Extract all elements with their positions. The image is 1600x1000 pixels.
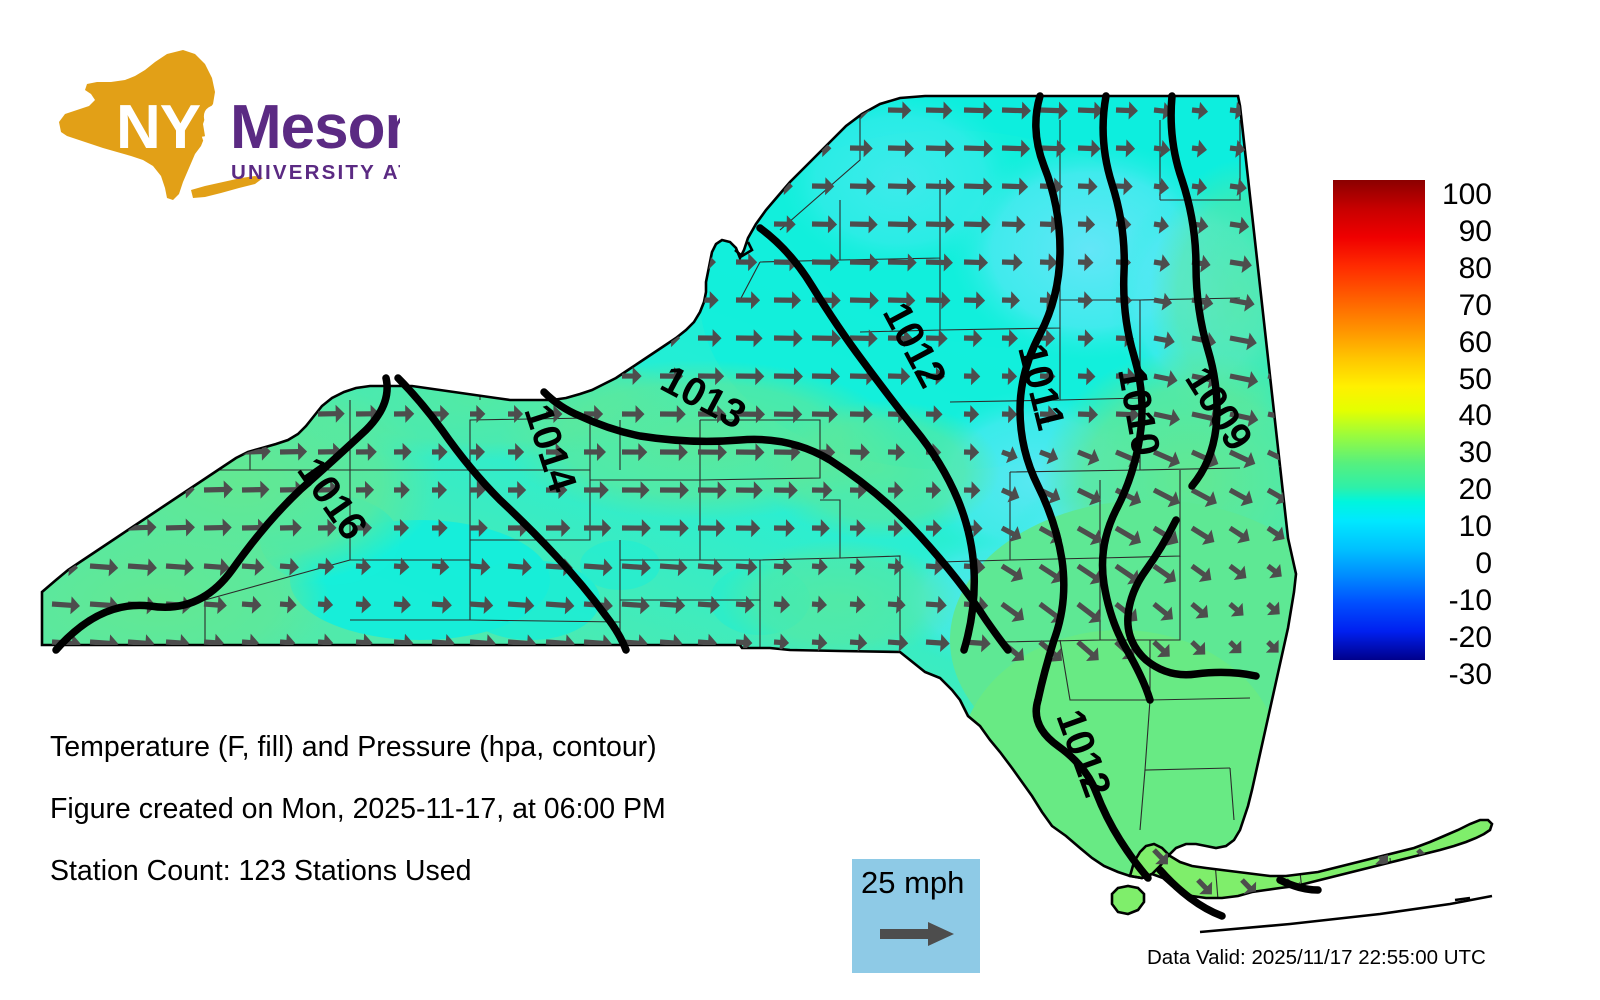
wind-arrow — [52, 100, 81, 119]
colorbar-tick-20: 20 — [1459, 475, 1492, 505]
wind-arrow — [52, 138, 80, 157]
wind-arrow — [660, 291, 678, 309]
wind-arrow — [546, 215, 567, 233]
wind-arrow — [736, 101, 751, 119]
wind-arrow — [280, 177, 298, 195]
wind-arrow — [622, 291, 638, 309]
wind-arrow — [736, 177, 753, 195]
colorbar-tick-90: 90 — [1459, 217, 1492, 247]
wind-arrow — [128, 480, 155, 499]
wind-arrow — [280, 139, 296, 157]
wind-arrow — [166, 139, 184, 157]
wind-arrow — [128, 291, 144, 309]
wind-arrow — [242, 366, 270, 385]
wind-arrow — [128, 138, 149, 157]
wind-arrow — [318, 291, 347, 309]
wind-arrow — [52, 252, 72, 271]
wind-arrow — [128, 404, 150, 423]
wind-arrow — [90, 176, 112, 195]
wind-arrow — [52, 176, 77, 195]
wind-arrow — [90, 138, 115, 157]
wind-arrow — [166, 366, 189, 385]
wind-arrow — [470, 367, 487, 385]
wind-arrow — [546, 139, 573, 157]
wind-arrow — [470, 291, 492, 309]
wind-arrow — [508, 101, 537, 119]
wind-arrow — [280, 366, 309, 385]
wind-arrow — [698, 139, 713, 157]
wind-arrow — [166, 404, 191, 423]
wind-arrow — [660, 177, 676, 195]
wind-arrow — [508, 139, 537, 157]
wind-arrow — [546, 367, 561, 385]
wind-arrow — [698, 177, 713, 195]
wind-arrow — [52, 366, 68, 385]
wind-arrow — [812, 101, 829, 119]
wind-arrow — [584, 367, 601, 385]
wind-arrow — [356, 291, 385, 309]
wind-arrow — [166, 291, 183, 309]
data-valid-timestamp: Data Valid: 2025/11/17 22:55:00 UTC — [1147, 946, 1486, 970]
wind-arrow — [1267, 253, 1295, 275]
wind-arrow — [470, 101, 498, 119]
colorbar-tick-50: 50 — [1459, 365, 1492, 395]
wind-arrow — [508, 253, 530, 271]
wind-arrow — [90, 291, 106, 309]
wind-arrow — [584, 101, 610, 119]
wind-arrow — [204, 291, 224, 309]
wind-legend-arrow-icon — [880, 921, 956, 952]
wind-arrow — [470, 139, 499, 157]
wind-arrow — [584, 291, 599, 309]
wind-arrow — [660, 101, 680, 119]
wind-arrow — [204, 101, 222, 119]
wind-arrow — [1280, 904, 1307, 931]
wind-arrow — [1266, 291, 1296, 314]
wind-arrow — [1456, 874, 1483, 901]
wind-arrow — [280, 328, 308, 347]
wind-arrow — [166, 215, 182, 233]
colorbar-tick-minus30: -30 — [1449, 660, 1492, 690]
wind-arrow — [432, 329, 455, 347]
wind-arrow — [660, 215, 675, 233]
wind-arrow — [128, 253, 144, 271]
wind-arrow — [584, 177, 605, 195]
wind-arrow — [318, 215, 342, 233]
wind-arrow — [318, 101, 335, 119]
colorbar-tick-minus10: -10 — [1449, 586, 1492, 616]
wind-arrow — [128, 176, 147, 195]
wind-arrow — [242, 253, 263, 271]
wind-arrow — [584, 215, 602, 233]
wind-arrow — [242, 215, 260, 233]
wind-arrow — [1267, 215, 1292, 236]
wind-arrow — [470, 253, 495, 271]
wind-arrow — [774, 101, 790, 119]
wind-arrow — [242, 328, 268, 347]
wind-arrow — [508, 215, 533, 233]
wind-arrow — [90, 214, 109, 233]
wind-arrow — [52, 328, 68, 347]
wind-arrow — [90, 366, 107, 385]
wind-arrow — [394, 215, 423, 233]
wind-arrow — [508, 291, 527, 309]
wind-arrow — [128, 366, 147, 385]
wind-arrow — [90, 100, 117, 119]
colorbar-tick-30: 30 — [1459, 438, 1492, 468]
wind-arrow — [546, 177, 570, 195]
wind-arrow — [90, 442, 112, 461]
wind-arrow — [318, 139, 337, 157]
wind-arrow — [356, 101, 375, 119]
wind-arrow — [432, 215, 461, 233]
wind-arrow — [508, 367, 523, 385]
wind-arrow — [204, 215, 220, 233]
colorbar-gradient — [1333, 180, 1425, 660]
wind-arrow — [52, 404, 69, 423]
wind-arrow — [508, 177, 535, 195]
caption-variables: Temperature (F, fill) and Pressure (hpa,… — [50, 716, 850, 778]
wind-arrow — [470, 329, 489, 347]
wind-arrow — [90, 518, 117, 537]
wind-arrow — [204, 253, 222, 271]
wind-arrow — [546, 253, 564, 271]
wind-arrow — [394, 291, 422, 309]
wind-arrow — [242, 404, 271, 423]
wind-arrow — [128, 329, 145, 347]
wind-arrow — [1368, 874, 1395, 901]
wind-arrow — [166, 177, 182, 195]
wind-arrow — [660, 139, 677, 157]
wind-arrow — [1236, 844, 1263, 871]
wind-arrow — [90, 329, 106, 347]
wind-arrow — [356, 329, 384, 347]
wind-arrow — [432, 139, 460, 157]
caption-station-count: Station Count: 123 Stations Used — [50, 840, 850, 902]
wind-arrow — [660, 253, 676, 271]
wind-arrow — [52, 290, 69, 309]
colorbar-tick-minus20: -20 — [1449, 623, 1492, 653]
wind-arrow — [1148, 904, 1175, 931]
wind-arrow — [318, 177, 340, 195]
wind-arrow — [432, 253, 460, 271]
wind-arrow — [1412, 874, 1439, 901]
wind-arrow — [622, 215, 638, 233]
wind-arrow — [242, 291, 266, 309]
wind-arrow — [584, 253, 600, 271]
wind-arrow — [1267, 177, 1289, 197]
wind-arrow — [622, 101, 645, 119]
wind-arrow — [1280, 844, 1307, 871]
wind-arrow — [1267, 139, 1286, 159]
wind-arrow — [698, 215, 714, 233]
colorbar-tick-70: 70 — [1459, 291, 1492, 321]
figure-caption: Temperature (F, fill) and Pressure (hpa,… — [50, 716, 850, 902]
wind-arrow — [1267, 101, 1284, 121]
wind-arrow — [508, 329, 525, 347]
colorbar-tick-80: 80 — [1459, 254, 1492, 284]
wind-arrow — [432, 291, 458, 309]
wind-arrow — [52, 480, 73, 499]
wind-arrow — [204, 328, 227, 347]
wind-arrow — [90, 252, 107, 271]
wind-arrow — [166, 253, 182, 271]
wind-arrow — [356, 215, 383, 233]
wind-arrow — [546, 101, 574, 119]
wind-arrow — [204, 442, 233, 461]
wind-arrow — [584, 329, 599, 347]
wind-arrow — [204, 366, 230, 385]
wind-arrow — [1456, 844, 1483, 871]
wind-arrow — [280, 253, 304, 271]
wind-arrow — [622, 253, 637, 271]
wind-arrow — [622, 177, 640, 195]
wind-arrow — [622, 329, 639, 347]
wind-arrow — [204, 139, 220, 157]
wind-arrow — [318, 367, 347, 385]
wind-arrow — [1456, 904, 1483, 931]
temperature-colorbar — [1333, 180, 1425, 660]
wind-arrow — [128, 442, 153, 461]
colorbar-tick-labels: 1009080706050403020100-10-20-30 — [1430, 160, 1550, 680]
wind-arrow — [546, 291, 562, 309]
wind-arrow — [622, 139, 642, 157]
wind-arrow — [90, 480, 114, 499]
wind-arrow — [432, 101, 458, 119]
wind-arrow — [128, 100, 152, 119]
wind-arrow — [356, 367, 383, 385]
wind-arrow — [394, 139, 419, 157]
wind-arrow — [318, 253, 345, 271]
wind-arrow — [1368, 904, 1395, 931]
wind-arrow — [242, 139, 257, 157]
colorbar-tick-40: 40 — [1459, 401, 1492, 431]
caption-created: Figure created on Mon, 2025-11-17, at 06… — [50, 778, 850, 840]
wind-arrow — [166, 328, 186, 347]
wind-arrow — [432, 177, 461, 195]
wind-arrow — [432, 367, 452, 385]
wind-arrow — [280, 101, 295, 119]
wind-arrow — [128, 215, 145, 233]
colorbar-tick-100: 100 — [1442, 180, 1492, 210]
wind-legend-label: 25 mph — [861, 863, 964, 903]
wind-arrow — [356, 177, 381, 195]
wind-arrow — [394, 329, 420, 347]
wind-arrow — [318, 329, 347, 347]
wind-arrow — [356, 139, 378, 157]
wind-arrow — [356, 253, 385, 271]
wind-arrow — [1266, 329, 1298, 352]
wind-arrow — [280, 291, 307, 309]
wind-arrow — [584, 139, 607, 157]
wind-scale-legend: 25 mph — [852, 859, 980, 973]
wind-arrow — [242, 177, 258, 195]
colorbar-tick-10: 10 — [1459, 512, 1492, 542]
wind-arrow — [736, 139, 751, 157]
colorbar-tick-60: 60 — [1459, 328, 1492, 358]
wind-arrow — [394, 253, 423, 271]
wind-arrow — [280, 404, 309, 423]
wind-arrow — [774, 139, 791, 157]
wind-arrow — [90, 404, 109, 423]
wind-arrow — [394, 101, 417, 119]
wind-arrow — [242, 101, 258, 119]
wind-arrow — [52, 214, 75, 233]
wind-arrow — [166, 100, 187, 119]
wind-arrow — [280, 215, 301, 233]
wind-arrow — [546, 329, 561, 347]
colorbar-tick-0: 0 — [1475, 549, 1492, 579]
wind-arrow — [394, 177, 422, 195]
wind-arrow — [52, 518, 76, 537]
wind-arrow — [52, 442, 70, 461]
wind-arrow — [204, 404, 232, 423]
wind-arrow — [166, 442, 194, 461]
wind-arrow — [698, 101, 715, 119]
wind-arrow — [470, 177, 499, 195]
map-figure: NYS Mesonet UNIVERSITY AT ALBANY — [0, 0, 1600, 1000]
wind-arrow — [204, 177, 219, 195]
wind-arrow — [470, 215, 497, 233]
